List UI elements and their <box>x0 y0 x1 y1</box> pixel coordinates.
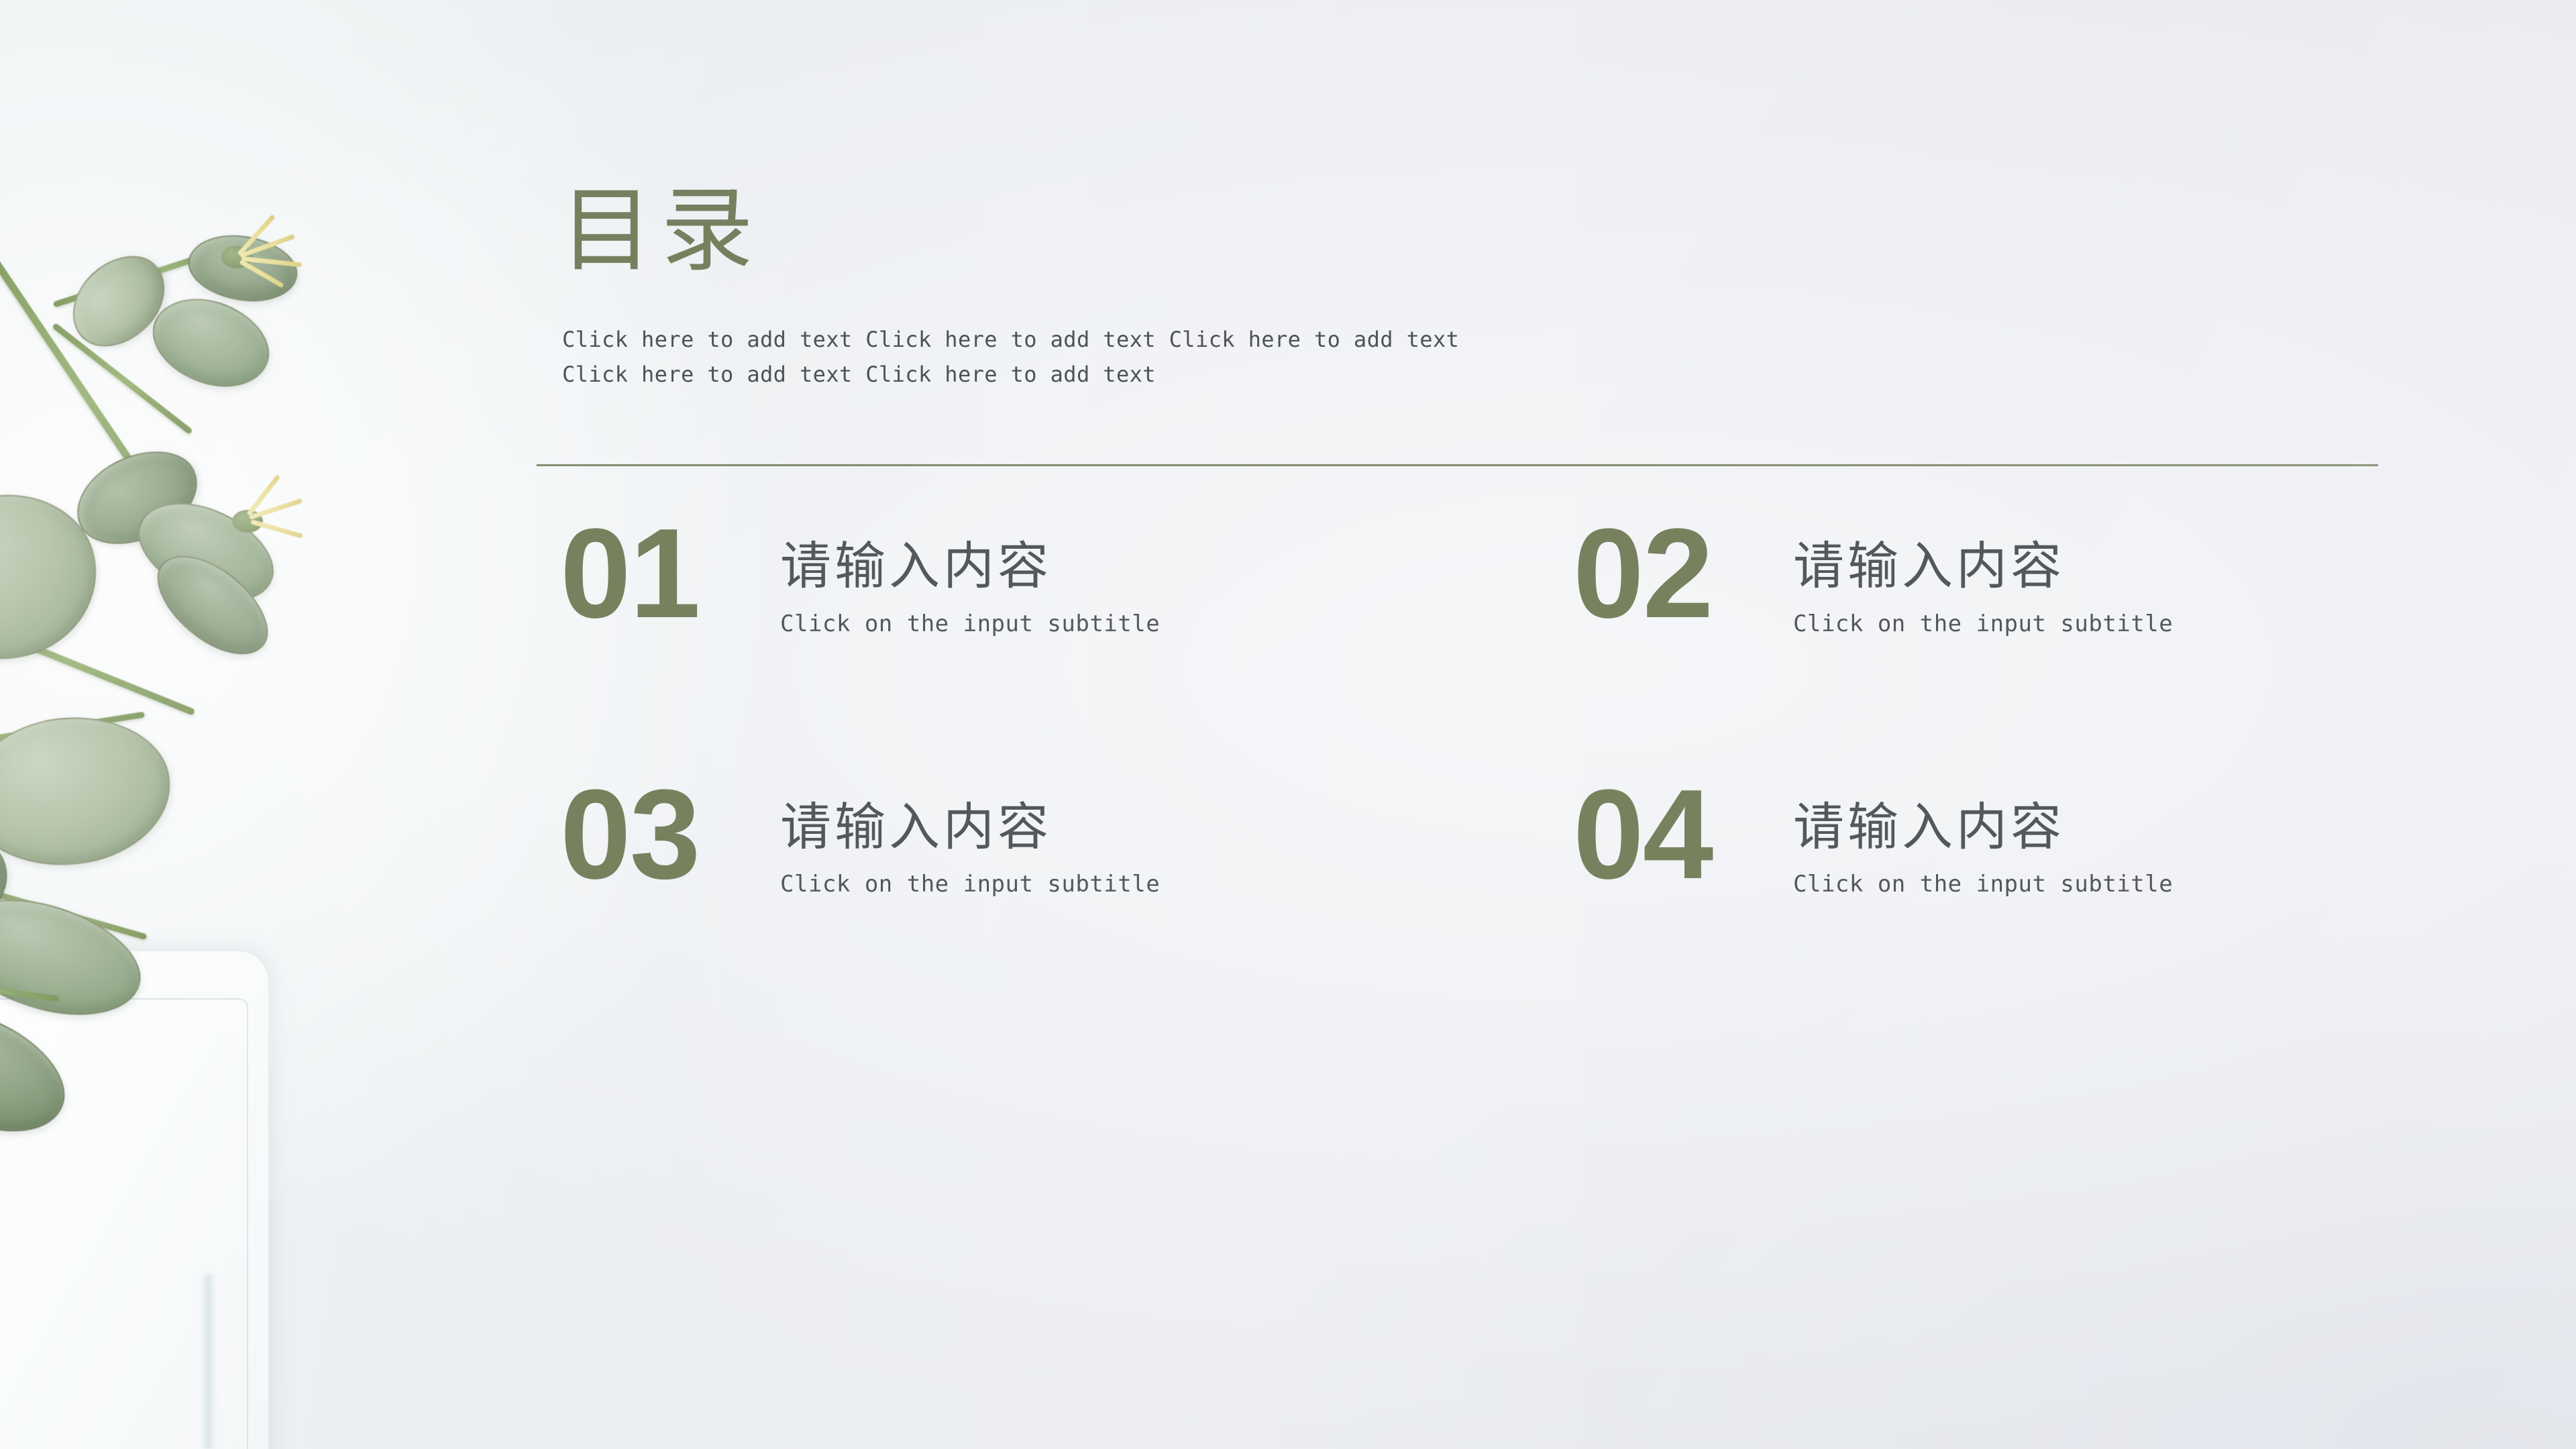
agenda-item-01[interactable]: 01 请输入内容 Click on the input subtitle <box>560 530 1573 638</box>
leaf <box>0 709 176 873</box>
agenda-item-heading: 请输入内容 <box>1793 800 2173 854</box>
page-title: 目录 <box>560 184 761 277</box>
agenda-item-number: 03 <box>560 776 755 894</box>
agenda-item-03[interactable]: 03 请输入内容 Click on the input subtitle <box>560 791 1573 899</box>
agenda-items-grid: 01 请输入内容 Click on the input subtitle 02 … <box>560 530 2385 898</box>
agenda-item-number: 01 <box>560 515 755 633</box>
header-divider <box>537 464 2378 466</box>
leaf <box>0 877 155 1036</box>
slide-content: 目录 Click here to add text Click here to … <box>560 0 2385 1449</box>
agenda-item-subtitle: Click on the input subtitle <box>780 871 1160 898</box>
agenda-item-subtitle: Click on the input subtitle <box>1793 871 2173 898</box>
page-subtitle: Click here to add text Click here to add… <box>562 323 1501 392</box>
agenda-row-2: 03 请输入内容 Click on the input subtitle 04 … <box>560 791 2385 899</box>
agenda-item-subtitle: Click on the input subtitle <box>1793 610 2173 638</box>
agenda-item-text: 请输入内容 Click on the input subtitle <box>1793 791 2173 899</box>
agenda-row-1: 01 请输入内容 Click on the input subtitle 02 … <box>560 530 2385 638</box>
agenda-item-text: 请输入内容 Click on the input subtitle <box>1793 530 2173 638</box>
agenda-item-number: 02 <box>1573 515 1768 633</box>
agenda-item-02[interactable]: 02 请输入内容 Click on the input subtitle <box>1573 530 2385 638</box>
agenda-item-text: 请输入内容 Click on the input subtitle <box>780 791 1160 899</box>
slide-canvas: 目录 Click here to add text Click here to … <box>0 0 2576 1449</box>
agenda-item-number: 04 <box>1573 776 1768 894</box>
agenda-item-heading: 请输入内容 <box>1793 539 2173 593</box>
agenda-item-text: 请输入内容 Click on the input subtitle <box>780 530 1160 638</box>
agenda-item-04[interactable]: 04 请输入内容 Click on the input subtitle <box>1573 791 2385 899</box>
agenda-item-heading: 请输入内容 <box>780 539 1160 593</box>
agenda-item-heading: 请输入内容 <box>780 800 1160 854</box>
eucalyptus-sprig <box>0 80 362 1221</box>
notebook-edge-highlight <box>201 1275 216 1449</box>
agenda-item-subtitle: Click on the input subtitle <box>780 610 1160 638</box>
